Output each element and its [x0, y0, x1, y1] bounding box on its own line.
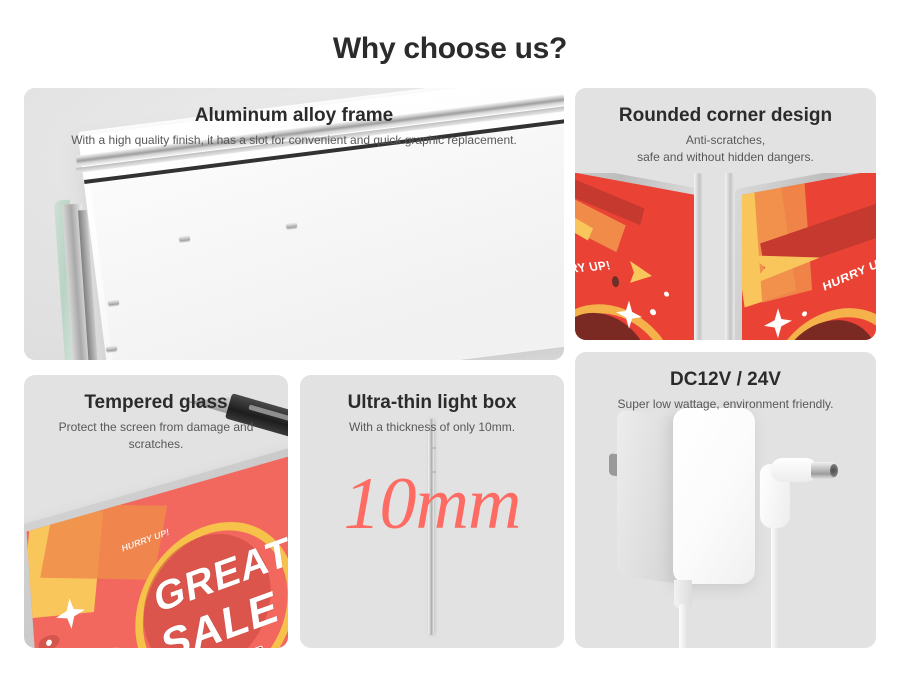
panel-edge-right [725, 173, 734, 340]
poster-left: HURRY UP! [575, 173, 695, 340]
adapter-cable-segment [771, 516, 778, 648]
page-title: Why choose us? [0, 32, 900, 66]
card-description: Anti-scratches, safe and without hidden … [575, 132, 876, 167]
card-title: Aluminum alloy frame [24, 105, 564, 127]
adapter-cable-segment [679, 604, 686, 648]
card-description-line1: Anti-scratches, [686, 133, 765, 147]
card-title: Rounded corner design [575, 105, 876, 127]
adapter-front-housing [673, 408, 755, 584]
feature-card-dc-power: DC12V / 24V Super low wattage, environme… [575, 352, 876, 648]
rounded-corner-illustration: HURRY UP! [575, 173, 876, 340]
card-title: Tempered glass [24, 392, 288, 414]
poster-hurry-text: HURRY UP! [575, 258, 612, 278]
card-header: Tempered glass Protect the screen from d… [24, 375, 288, 454]
poster-great-sale: HURRY UP! GREAT SALE LIMITED [27, 454, 288, 648]
light-box-panel-left: HURRY UP! [575, 173, 702, 340]
card-description: Protect the screen from damage and scrat… [24, 419, 288, 454]
card-header: DC12V / 24V Super low wattage, environme… [575, 352, 876, 413]
dc-connector-tip [830, 464, 838, 477]
card-description-line2: safe and without hidden dangers. [637, 150, 814, 164]
card-title: DC12V / 24V [575, 369, 876, 391]
poster-dot [802, 311, 807, 317]
card-header: Ultra-thin light box With a thickness of… [300, 375, 564, 436]
feature-card-ultra-thin-light-box: Ultra-thin light box With a thickness of… [300, 375, 564, 648]
profile-notch [431, 447, 436, 449]
light-box-panel-right: HURRY UP! [735, 173, 876, 340]
poster-dot [650, 309, 656, 316]
poster-right: HURRY UP! [742, 173, 876, 340]
card-header: Aluminum alloy frame With a high quality… [24, 88, 564, 149]
card-description: Super low wattage, environment friendly. [575, 396, 876, 413]
card-title: Ultra-thin light box [300, 392, 564, 414]
poster-arrow [630, 261, 652, 287]
thickness-label: 10mm [300, 467, 564, 541]
poster-dot [664, 291, 669, 297]
tilted-light-box: HURRY UP! GREAT SALE LIMITED [24, 444, 288, 648]
feature-card-tempered-glass: Tempered glass Protect the screen from d… [24, 375, 288, 648]
card-header: Rounded corner design Anti-scratches, sa… [575, 88, 876, 167]
card-description: With a high quality finish, it has a slo… [24, 132, 564, 149]
panel-edge-left [694, 173, 703, 340]
poster-dot [612, 276, 619, 288]
poster-star [764, 306, 792, 340]
poster-hurry-text: HURRY UP! [821, 251, 876, 293]
why-choose-us-page: Why choose us? Aluminum alloy frame With… [0, 0, 900, 673]
feature-card-rounded-corner-design: Rounded corner design Anti-scratches, sa… [575, 88, 876, 340]
card-description: With a thickness of only 10mm. [300, 419, 564, 436]
feature-card-aluminum-alloy-frame: Aluminum alloy frame With a high quality… [24, 88, 564, 360]
